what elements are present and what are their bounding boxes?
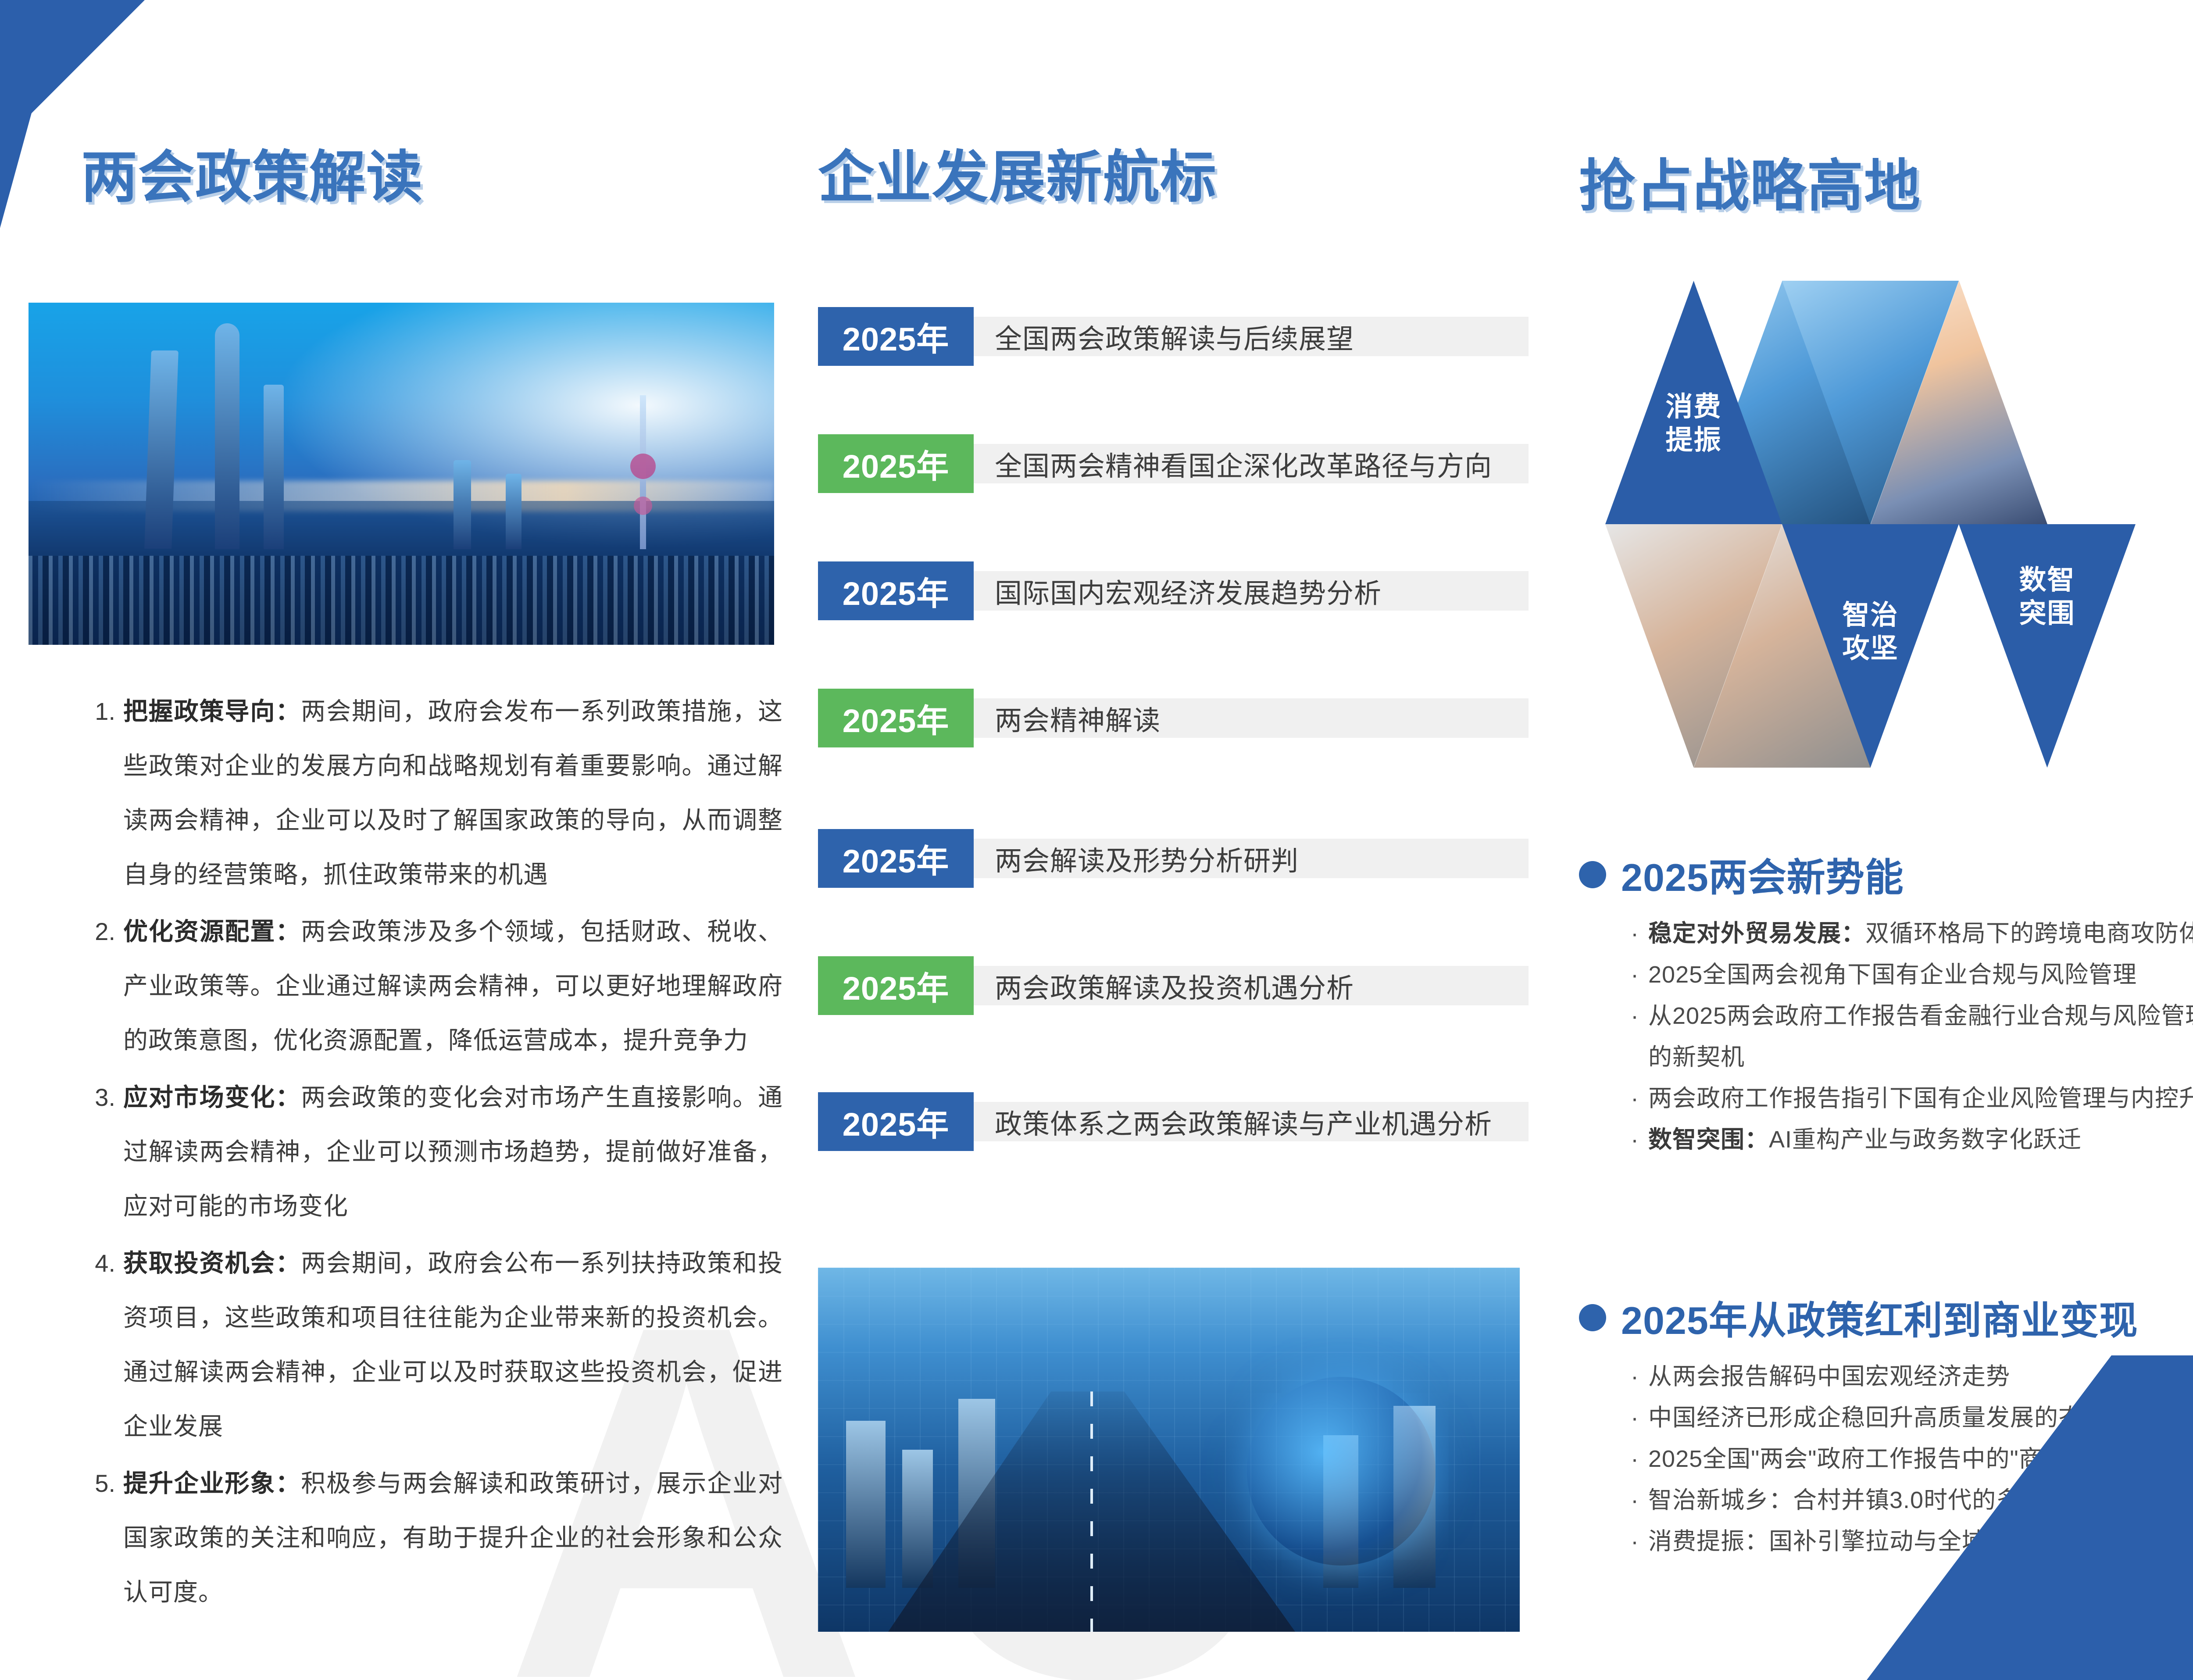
tower-jinmao [264,385,284,549]
bullet-section-new-momentum: 2025两会新势能 ·稳定对外贸易发展：双循环格局下的跨境电商攻防体系 ·202… [1579,847,2193,1160]
year-row[interactable]: 2025年 两会精神解读 [818,689,1529,747]
list-item-index: 1. [81,684,123,902]
hex-label-consumption: 消费 提振 [1605,390,1782,457]
bullet-item: ·数智突围：AI重构产业与政务数字化跃迁 [1631,1119,2193,1160]
bullet-body: 从2025两会政府工作报告看金融行业合规与风险管理的新契机 [1648,1003,2193,1070]
bullet-body: 双循环格局下的跨境电商攻防体系 [1865,920,2193,947]
year-row-label: 两会精神解读 [974,698,1529,738]
bullet-text: 两会政府工作报告指引下国有企业风险管理与内控升级 [1648,1078,2193,1119]
hex-label-line2: 突围 [1959,597,2136,630]
list-item: 4. 获取投资机会：两会期间，政府会公布一系列扶持政策和投资项目，这些政策和项目… [81,1236,783,1454]
year-badge: 2025年 [818,689,974,747]
bullet-body: AI重构产业与政务数字化跃迁 [1769,1126,2082,1153]
list-item-lead: 优化资源配置： [123,918,301,945]
list-item-text: 应对市场变化：两会政策的变化会对市场产生直接影响。通过解读两会精神，企业可以预测… [123,1070,783,1233]
year-badge: 2025年 [818,1092,974,1151]
building-block [902,1450,933,1588]
section-heading-text: 2025年从政策红利到商业变现 [1621,1290,2138,1345]
section-heading-text: 2025两会新势能 [1621,847,1904,902]
tower-shanghai-tower [215,323,239,549]
hex-label-line1: 数智 [1959,564,2136,597]
year-badge: 2025年 [818,434,974,493]
bullet-marker-icon: · [1631,1438,1648,1480]
bullet-text: 数智突围：AI重构产业与政务数字化跃迁 [1648,1119,2082,1160]
bullet-text: 稳定对外贸易发展：双循环格局下的跨境电商攻防体系 [1648,913,2193,954]
bullet-marker-icon: · [1631,954,1648,995]
year-row[interactable]: 2025年 全国两会精神看国企深化改革路径与方向 [818,434,1529,493]
bullet-lead: 稳定对外贸易发展： [1648,920,1865,947]
policy-points-list: 1. 把握政策导向：两会期间，政府会发布一系列政策措施，这些政策对企业的发展方向… [81,684,783,1622]
bullet-item: ·稳定对外贸易发展：双循环格局下的跨境电商攻防体系 [1631,913,2193,954]
section-heading: 2025年从政策红利到商业变现 [1579,1290,2193,1345]
list-item: 3. 应对市场变化：两会政策的变化会对市场产生直接影响。通过解读两会精神，企业可… [81,1070,783,1233]
year-row[interactable]: 2025年 政策体系之两会政策解读与产业机遇分析 [818,1092,1529,1151]
bullet-text: 2025全国"两会"政府工作报告中的"商机" [1648,1438,2076,1480]
list-item-lead: 提升企业形象： [123,1469,301,1497]
year-badge: 2025年 [818,561,974,620]
year-row[interactable]: 2025年 国际国内宏观经济发展趋势分析 [818,561,1529,620]
bullet-item: ·从2025两会政府工作报告看金融行业合规与风险管理的新契机 [1631,995,2193,1078]
year-badge: 2025年 [818,829,974,888]
year-row-label: 全国两会政策解读与后续展望 [974,317,1529,356]
building-silhouettes [29,556,774,645]
hex-segment-digital[interactable]: 数智 突围 [1959,524,2136,768]
list-item-index: 3. [81,1070,123,1233]
bullet-item: ·2025全国两会视角下国有企业合规与风险管理 [1631,954,2193,995]
list-item-lead: 把握政策导向： [123,697,301,725]
bullet-body: 2025全国两会视角下国有企业合规与风险管理 [1648,962,2137,988]
bullet-marker-icon: · [1631,1397,1648,1438]
bullet-marker-icon: · [1631,1356,1648,1397]
bullet-list: ·稳定对外贸易发展：双循环格局下的跨境电商攻防体系 ·2025全国两会视角下国有… [1579,913,2193,1160]
year-row-label: 两会政策解读及投资机遇分析 [974,966,1529,1005]
section-heading: 2025两会新势能 [1579,847,2193,902]
tower-mid-b [506,474,521,549]
bullet-lead: 数智突围： [1648,1126,1769,1153]
year-row-label: 两会解读及形势分析研判 [974,839,1529,878]
bullet-marker-icon: · [1631,995,1648,1078]
year-badge: 2025年 [818,956,974,1015]
hex-label-digital: 数智 突围 [1959,564,2136,630]
list-item: 2. 优化资源配置：两会政策涉及多个领域，包括财政、税收、产业政策等。企业通过解… [81,904,783,1068]
hex-label-line1: 消费 [1605,390,1782,424]
bullet-dot-icon [1579,1304,1606,1331]
bullet-marker-icon: · [1631,1521,1648,1562]
right-column-title: 抢占战略高地 [1579,140,1921,222]
bullet-dot-icon [1579,861,1606,888]
city-skyline-photo [29,303,774,645]
list-item: 5. 提升企业形象：积极参与两会解读和政策研讨，展示企业对国家政策的关注和响应，… [81,1456,783,1619]
bullet-marker-icon: · [1631,1119,1648,1160]
list-item-body: 两会期间，政府会公布一系列扶持政策和投资项目，这些政策和项目往往能为企业带来新的… [123,1249,783,1440]
list-item-body: 两会期间，政府会发布一系列政策措施，这些政策对企业的发展方向和战略规划有着重要影… [123,697,783,888]
bullet-item: ·两会政府工作报告指引下国有企业风险管理与内控升级 [1631,1078,2193,1119]
hex-segment-consumption[interactable]: 消费 提振 [1605,281,1782,524]
year-badge: 2025年 [818,307,974,366]
year-row[interactable]: 2025年 两会解读及形势分析研判 [818,829,1529,888]
bullet-marker-icon: · [1631,1480,1648,1521]
year-row[interactable]: 2025年 两会政策解读及投资机遇分析 [818,956,1529,1015]
bullet-text: 2025全国两会视角下国有企业合规与风险管理 [1648,954,2137,995]
list-item-lead: 应对市场变化： [123,1083,301,1111]
tower-mid-a [454,460,471,549]
poster-page: AC 两会政策解读 1. 把握政策导向：两会期间，政府会发布一系列政策措施，这些… [0,0,2193,1680]
list-item-text: 优化资源配置：两会政策涉及多个领域，包括财政、税收、产业政策等。企业通过解读两会… [123,904,783,1068]
oriental-pearl-tower [640,395,646,549]
list-item: 1. 把握政策导向：两会期间，政府会发布一系列政策措施，这些政策对企业的发展方向… [81,684,783,902]
left-column-title: 两会政策解读 [81,132,423,213]
list-item-text: 获取投资机会：两会期间，政府会公布一系列扶持政策和投资项目，这些政策和项目往往能… [123,1236,783,1454]
hex-label-line1: 智治 [1782,599,1959,632]
list-item-index: 2. [81,904,123,1068]
hex-segment-governance[interactable]: 智治 攻坚 [1782,524,1959,768]
list-item-lead: 获取投资机会： [123,1249,301,1277]
bullet-text: 中国经济已形成企稳回升高质量发展的态势 [1648,1397,2107,1438]
list-item-text: 提升企业形象：积极参与两会解读和政策研讨，展示企业对国家政策的关注和响应，有助于… [123,1456,783,1619]
building-block [846,1421,886,1588]
data-globe [1247,1377,1436,1566]
bullet-body: 两会政府工作报告指引下国有企业风险管理与内控升级 [1648,1085,2193,1112]
bullet-marker-icon: · [1631,913,1648,954]
bullet-text: 从两会报告解码中国宏观经济走势 [1648,1356,2010,1397]
hexagon-diagram: 消费 提振 智治 攻坚 数智 突 [1605,281,2136,768]
list-item-index: 5. [81,1456,123,1619]
hex-segment-hands-photo [1605,524,1782,768]
hex-label-governance: 智治 攻坚 [1782,599,1959,665]
list-item-index: 4. [81,1236,123,1454]
year-row-label: 政策体系之两会政策解读与产业机遇分析 [974,1102,1529,1141]
middle-column-title: 企业发展新航标 [818,132,1217,213]
bullet-marker-icon: · [1631,1078,1648,1119]
list-item-text: 把握政策导向：两会期间，政府会发布一系列政策措施，这些政策对企业的发展方向和战略… [123,684,783,902]
year-row[interactable]: 2025年 全国两会政策解读与后续展望 [818,307,1529,366]
hex-label-line2: 提振 [1605,424,1782,457]
year-row-label: 国际国内宏观经济发展趋势分析 [974,571,1529,611]
smart-city-photo [818,1268,1520,1632]
year-row-label: 全国两会精神看国企深化改革路径与方向 [974,444,1529,483]
bullet-text: 从2025两会政府工作报告看金融行业合规与风险管理的新契机 [1648,995,2193,1078]
lane-marking [1090,1391,1093,1632]
hex-label-line2: 攻坚 [1782,632,1959,665]
